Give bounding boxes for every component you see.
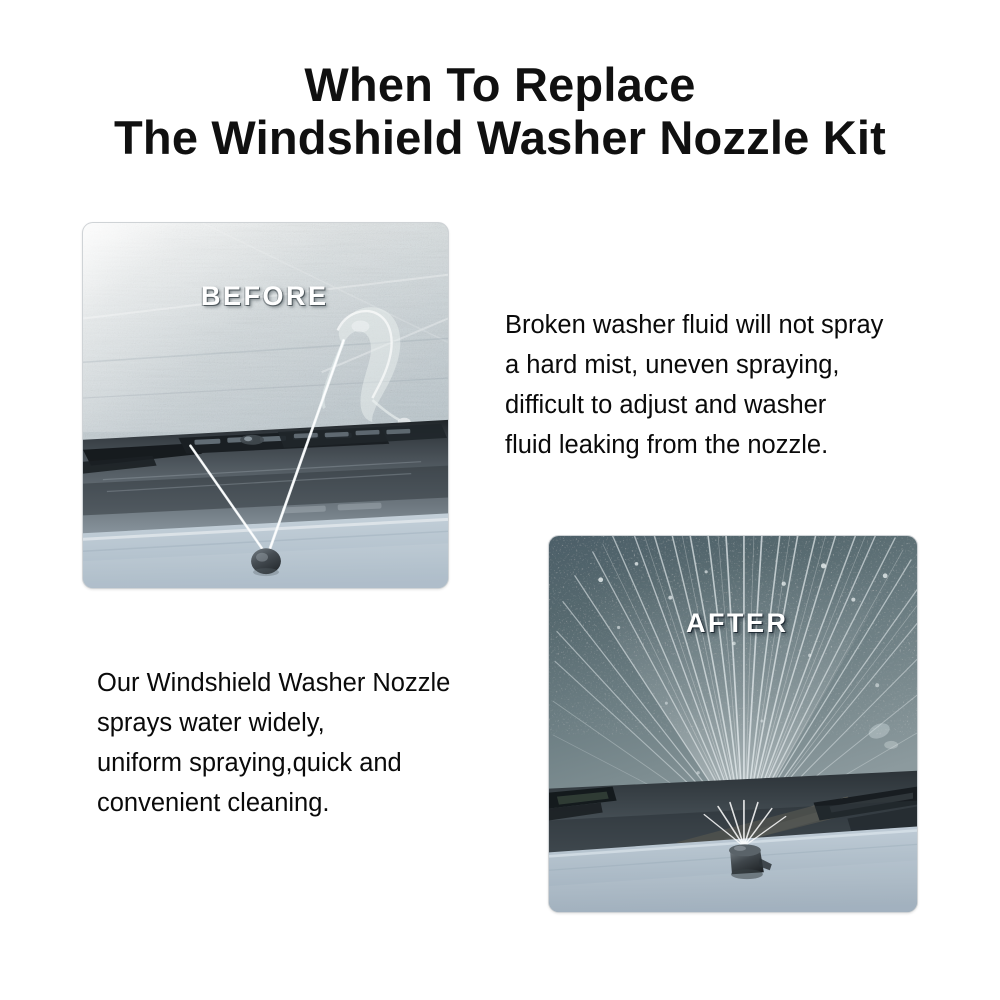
after-description-line-3: uniform spraying,quick and <box>97 743 450 783</box>
after-description-line-1: Our Windshield Washer Nozzle <box>97 663 450 703</box>
before-photo-image <box>83 223 448 588</box>
after-photo-image <box>549 536 917 912</box>
page-title-line-1: When To Replace <box>0 58 1000 111</box>
before-description-line-3: difficult to adjust and washer <box>505 385 883 425</box>
after-description-line-2: sprays water widely, <box>97 703 450 743</box>
before-description-line-2: a hard mist, uneven spraying, <box>505 345 883 385</box>
before-description-line-4: fluid leaking from the nozzle. <box>505 425 883 465</box>
before-description-text: Broken washer fluid will not spray a har… <box>505 305 883 465</box>
after-photo-panel <box>548 535 918 913</box>
after-description-line-4: convenient cleaning. <box>97 783 450 823</box>
page-title: When To Replace The Windshield Washer No… <box>0 58 1000 164</box>
before-photo-panel <box>82 222 449 589</box>
infographic-page: When To Replace The Windshield Washer No… <box>0 0 1000 1000</box>
before-description-line-1: Broken washer fluid will not spray <box>505 305 883 345</box>
after-description-text: Our Windshield Washer Nozzle sprays wate… <box>97 663 450 823</box>
page-title-line-2: The Windshield Washer Nozzle Kit <box>0 111 1000 164</box>
